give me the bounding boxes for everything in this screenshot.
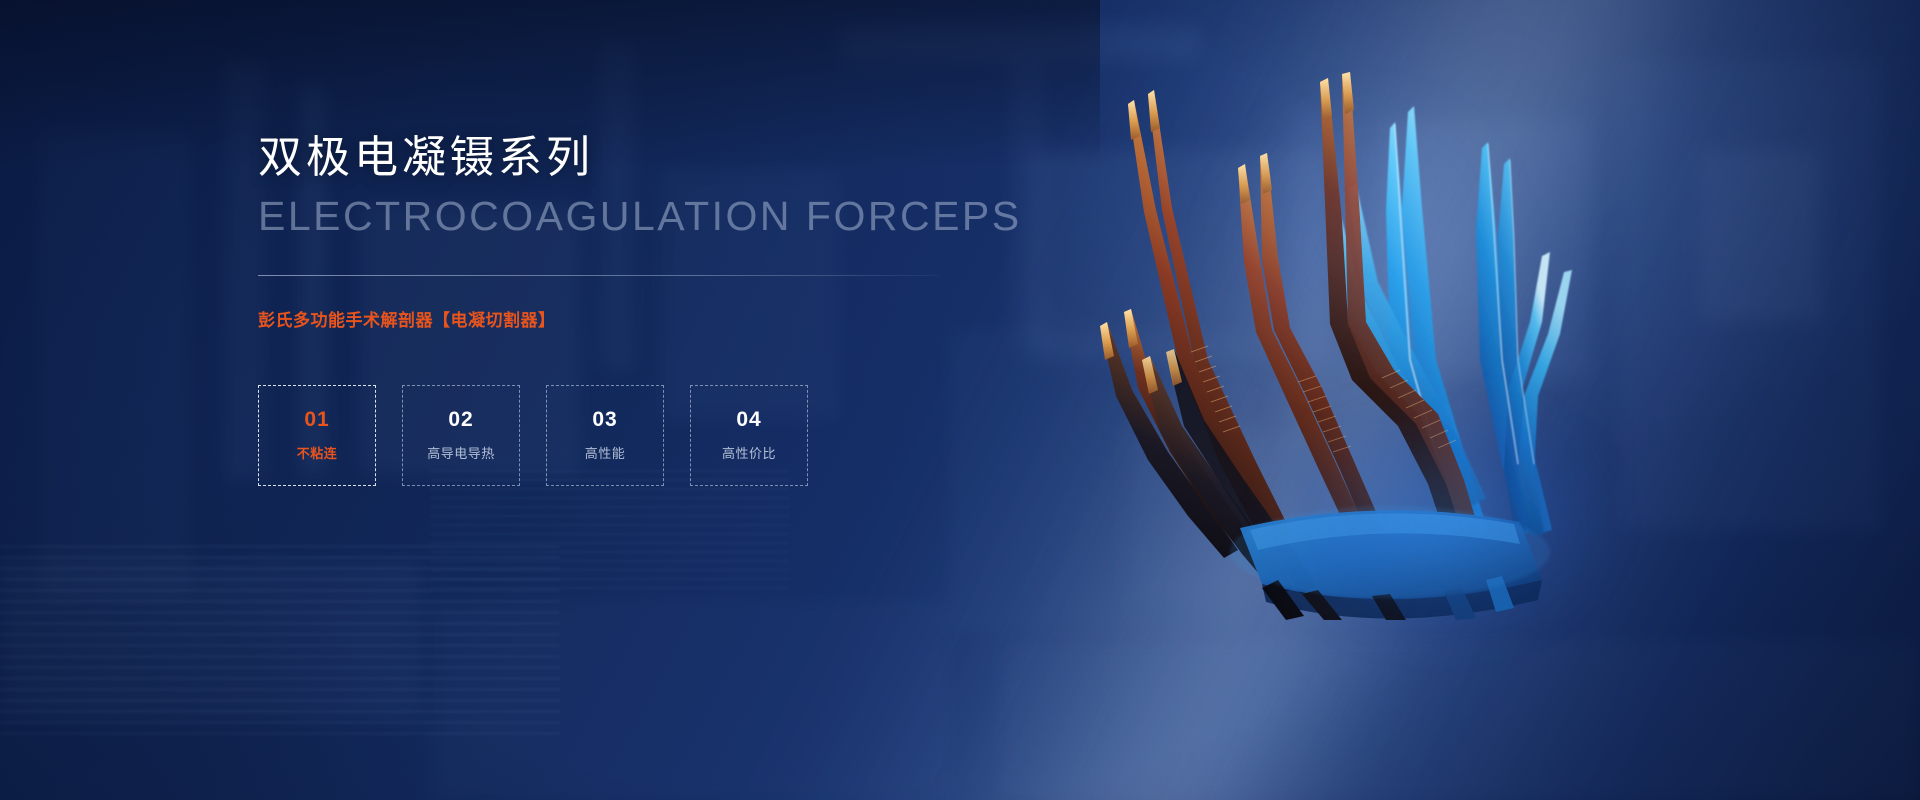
product-banner: 双极电凝镊系列 ELECTROCOAGULATION FORCEPS 彭氏多功能… [0, 0, 1920, 800]
feature-card-03[interactable]: 03 高性能 [546, 385, 664, 486]
feature-card-04[interactable]: 04 高性价比 [690, 385, 808, 486]
feature-number: 01 [304, 409, 329, 430]
page-subtitle-english: ELECTROCOAGULATION FORCEPS [258, 194, 1118, 239]
forceps-illustration [1090, 60, 1710, 620]
feature-card-02[interactable]: 02 高导电导热 [402, 385, 520, 486]
feature-number: 03 [592, 409, 617, 430]
feature-card-01[interactable]: 01 不粘连 [258, 385, 376, 486]
feature-label: 高性能 [585, 443, 626, 462]
background-blinds-secondary [430, 470, 790, 590]
feature-label: 高导电导热 [427, 443, 495, 462]
feature-number: 02 [448, 409, 473, 430]
feature-list: 01 不粘连 02 高导电导热 03 高性能 04 高性价比 [258, 385, 1118, 486]
product-tagline: 彭氏多功能手术解剖器【电凝切割器】 [258, 306, 1118, 331]
banner-content: 双极电凝镊系列 ELECTROCOAGULATION FORCEPS 彭氏多功能… [258, 132, 1118, 486]
feature-label: 高性价比 [722, 443, 776, 462]
title-divider [258, 275, 938, 276]
page-title: 双极电凝镊系列 [258, 132, 1118, 184]
product-image-forceps [1090, 60, 1710, 620]
feature-label: 不粘连 [297, 443, 338, 462]
feature-number: 04 [736, 409, 761, 430]
